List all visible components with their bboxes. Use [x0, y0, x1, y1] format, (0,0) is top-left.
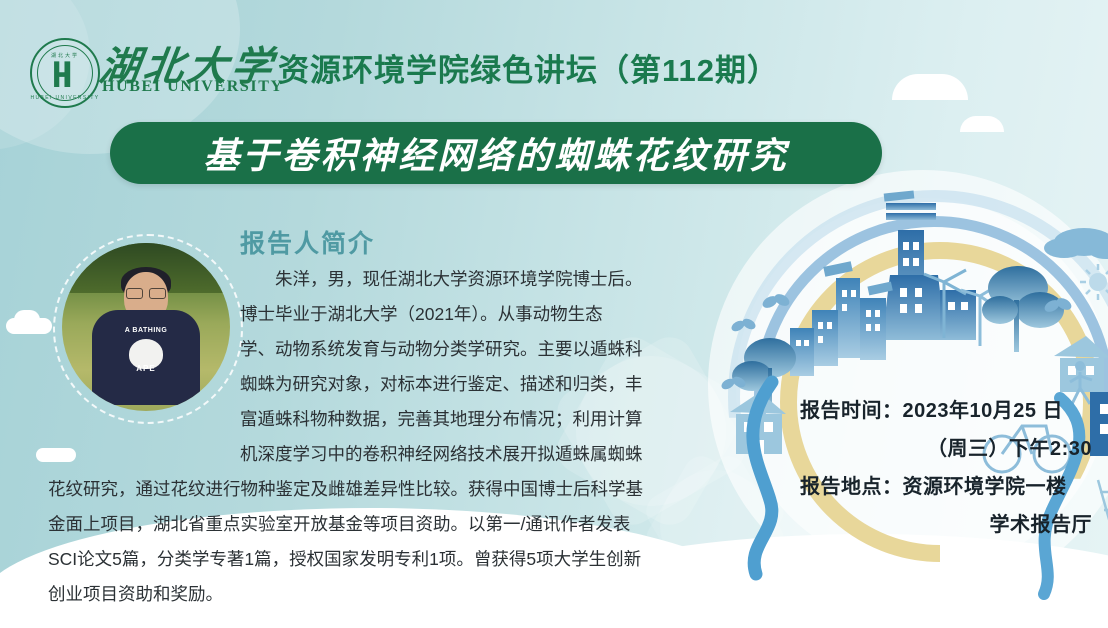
cloud-2: [14, 310, 40, 330]
bio-line-7: 花纹研究，通过花纹进行物种鉴定及雌雄差异性比较。获得中国博士后科学基: [48, 472, 708, 507]
event-place-line-1: 报告地点：资源环境学院一楼: [800, 468, 1100, 506]
event-info-block: 报告时间：2023年10月25 日 （周三）下午2:30 报告地点：资源环境学院…: [800, 392, 1100, 544]
butterfly-2: [730, 317, 758, 334]
cloud-illustration: [1044, 228, 1108, 259]
poster-root: 湖北大学 HUBEI UNIVERSITY 湖北大学 HUBEI UNIVERS…: [0, 0, 1108, 628]
speaker-section-title: 报告人简介: [240, 224, 375, 260]
university-logo-english: HUBEI UNIVERSITY: [102, 78, 284, 96]
university-seal-icon: 湖北大学 HUBEI UNIVERSITY: [30, 38, 100, 108]
bio-line-6: 机深度学习中的卷积神经网络技术展开拟遁蛛属蜘蛛: [48, 437, 708, 472]
lecture-title-banner: 基于卷积神经网络的蜘蛛花纹研究: [110, 122, 882, 184]
butterfly-1: [761, 292, 792, 311]
speaker-bio: 朱洋，男，现任湖北大学资源环境学院博士后。 博士毕业于湖北大学（2021年）。从…: [48, 262, 708, 612]
bio-line-1: 朱洋，男，现任湖北大学资源环境学院博士后。: [48, 262, 708, 297]
event-time-line-2: （周三）下午2:30: [800, 430, 1100, 468]
bio-line-10: 创业项目资助和奖励。: [48, 577, 708, 612]
bio-line-9: SCI论文5篇，分类学专著1篇，授权国家发明专利1项。曾获得5项大学生创新: [48, 542, 708, 577]
event-time-line-1: 报告时间：2023年10月25 日: [800, 392, 1100, 430]
bio-line-8: 金面上项目，湖北省重点实验室开放基金等项目资助。以第一/通讯作者发表: [48, 507, 708, 542]
bio-line-2: 博士毕业于湖北大学（2021年）。从事动物生态: [48, 297, 708, 332]
bio-line-3: 学、动物系统发育与动物分类学研究。主要以遁蛛科: [48, 332, 708, 367]
seal-bottom-text: HUBEI UNIVERSITY: [30, 95, 99, 101]
bio-line-4: 蜘蛛为研究对象，对标本进行鉴定、描述和归类，丰: [48, 367, 708, 402]
poster-header: 湖北大学 HUBEI UNIVERSITY 湖北大学 HUBEI UNIVERS…: [0, 0, 1108, 118]
lecture-title-text: 基于卷积神经网络的蜘蛛花纹研究: [110, 122, 882, 184]
event-place-line-2: 学术报告厅: [800, 506, 1100, 544]
cloud-1: [6, 318, 52, 334]
seal-top-text: 湖北大学: [51, 52, 79, 59]
sun-icon: [1080, 264, 1108, 300]
cloud-5: [960, 116, 1004, 132]
bio-line-5: 富遁蛛科物种数据，完善其地理分布情况；利用计算: [48, 402, 708, 437]
page-title: 资源环境学院绿色讲坛（第112期）: [278, 45, 779, 90]
